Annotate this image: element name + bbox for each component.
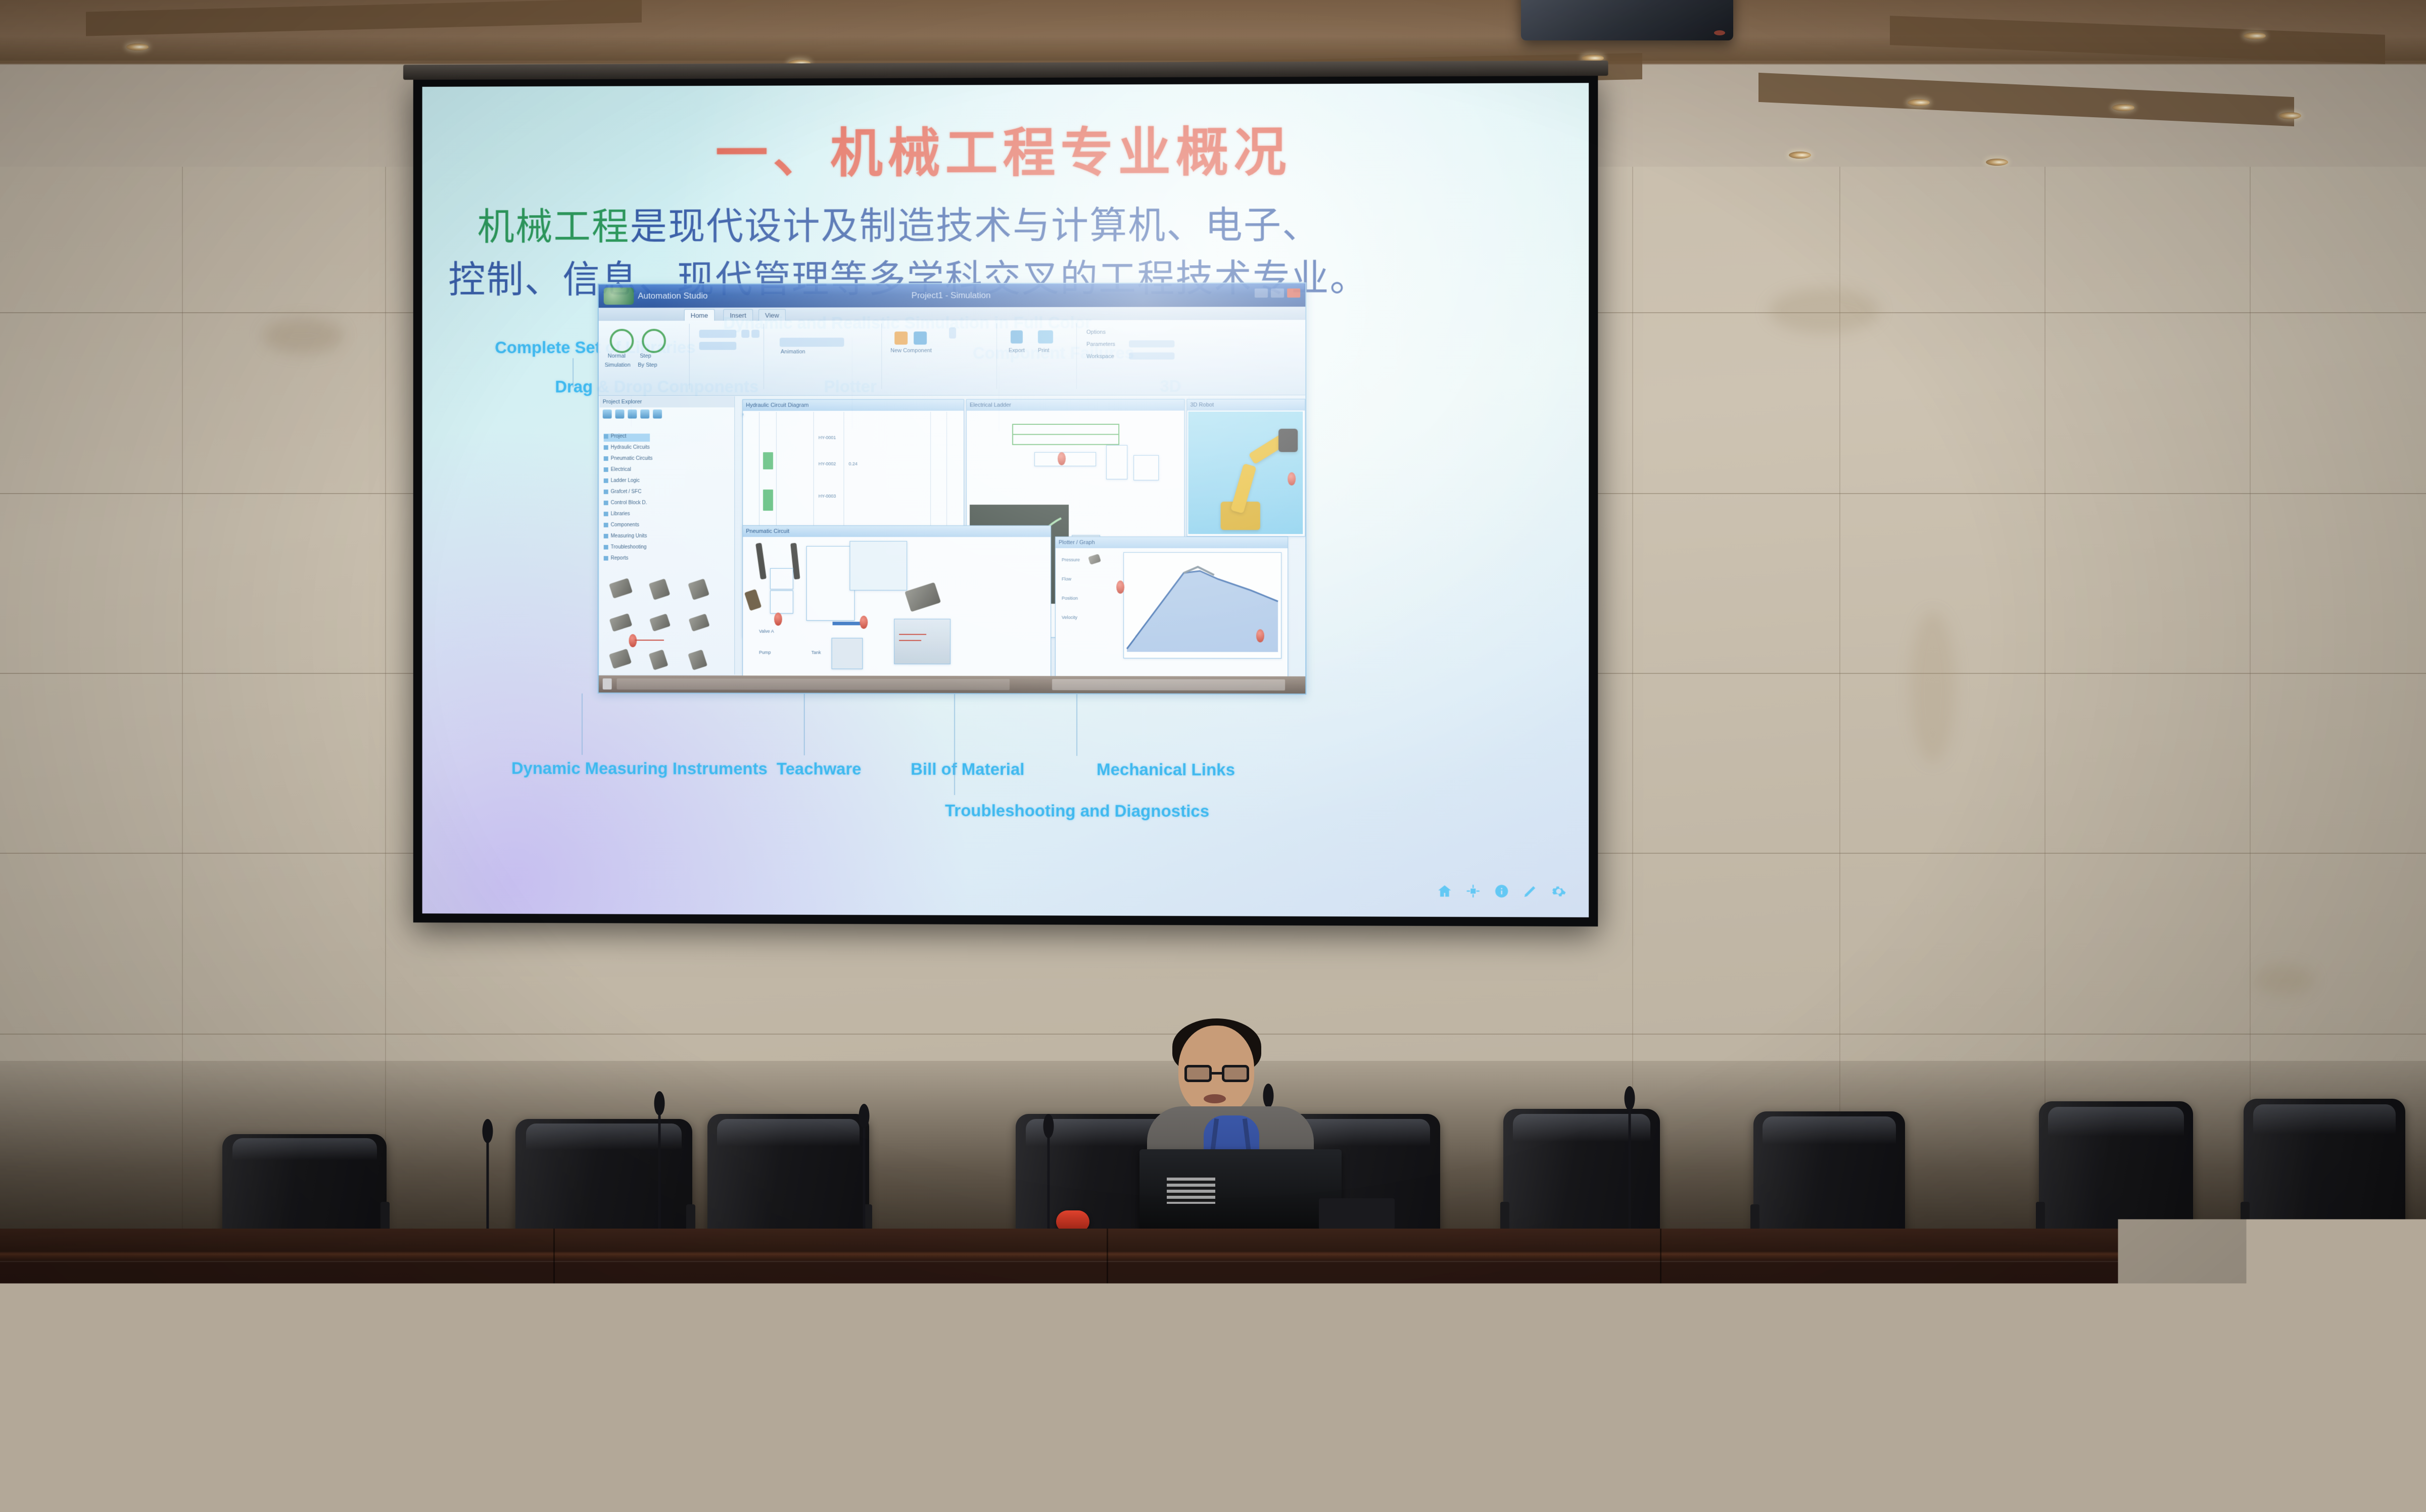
component-thumb[interactable]	[609, 578, 633, 599]
component-thumb[interactable]	[609, 649, 632, 669]
app-ribbon: Normal Step Simulation By Step Animation	[599, 320, 1306, 396]
projector-lens-icon	[1714, 30, 1725, 35]
slide-title: 一、机械工程专业概况	[422, 108, 1589, 187]
plot-canvas	[1123, 552, 1281, 659]
minimize-icon[interactable]	[1255, 288, 1268, 298]
laptop[interactable]	[1139, 1149, 1342, 1231]
callout-teachware: Teachware	[777, 759, 862, 778]
dais-panel-seam	[553, 1229, 555, 1481]
filter-icon[interactable]	[653, 409, 662, 418]
panel-title: Electrical Ladder	[967, 400, 1184, 411]
open-folder-icon[interactable]	[615, 410, 625, 419]
insert-icon[interactable]	[949, 327, 956, 338]
gooseneck-microphone	[644, 1091, 675, 1239]
panel-title: Hydraulic Circuit Diagram	[743, 400, 964, 411]
home-icon[interactable]	[1437, 884, 1452, 899]
sub-panel	[849, 541, 907, 591]
status-segment	[1052, 679, 1285, 691]
component-thumb[interactable]	[649, 649, 669, 670]
callout-leader-line	[1076, 694, 1077, 756]
callout-mechanical-links: Mechanical Links	[1097, 760, 1235, 779]
sub-panel	[1106, 445, 1127, 479]
app-tabbar: Home Insert View	[599, 307, 1306, 321]
callout-dynamic-measuring: Dynamic Measuring Instruments	[511, 759, 768, 778]
dais-panel-seam	[1107, 1229, 1108, 1481]
panel-plotter[interactable]: Plotter / Graph Pressure Flow Position V…	[1055, 536, 1288, 678]
app-title-mid: Project1 - Simulation	[912, 284, 991, 307]
component-thumb[interactable]	[689, 614, 710, 632]
component-thumb[interactable]	[609, 613, 633, 632]
chair	[2244, 1099, 2405, 1235]
floor	[0, 1482, 2426, 1512]
panel-title: Plotter / Graph	[1056, 537, 1288, 548]
component-thumb[interactable]	[649, 613, 671, 631]
info-circle-icon[interactable]	[1494, 884, 1509, 899]
app-statusbar	[599, 675, 1306, 694]
pen-icon[interactable]	[1523, 884, 1538, 899]
component-thumb[interactable]	[649, 578, 671, 600]
chair	[2039, 1101, 2193, 1235]
slide-body-line1: 是现代设计及制造技术与计算机、电子、	[630, 205, 1320, 248]
workspace-field[interactable]	[1129, 353, 1174, 360]
downlight	[2244, 32, 2266, 39]
tree-item[interactable]: Pneumatic Circuits	[604, 456, 653, 464]
slideshow-controls[interactable]	[1437, 884, 1566, 899]
projection-screen-frame: 一、机械工程专业概况 机械工程是现代设计及制造技术与计算机、电子、 控制、信息、…	[413, 74, 1598, 926]
app-titlebar: Automation Studio Project1 - Simulation	[599, 283, 1306, 308]
dais-front-panel	[0, 1229, 2426, 1512]
record-button[interactable]	[751, 330, 759, 338]
library-icon[interactable]	[914, 331, 927, 345]
downlight	[2279, 112, 2301, 119]
callout-troubleshooting: Troubleshooting and Diagnostics	[945, 801, 1209, 821]
tree-item[interactable]: Troubleshooting	[604, 545, 647, 553]
annotation-node	[1058, 452, 1066, 465]
embedded-app-screenshot: Automation Studio Project1 - Simulation …	[598, 282, 1307, 695]
dais-panel-seam	[1660, 1229, 1661, 1481]
crosshair-icon[interactable]	[1465, 884, 1481, 899]
sub-panel	[806, 546, 855, 621]
chair	[707, 1114, 869, 1238]
tab-view[interactable]: View	[758, 309, 786, 321]
status-segment	[617, 678, 1010, 690]
callout-leader-line	[804, 694, 805, 755]
mech-part-thumb	[905, 582, 941, 612]
component-thumb	[744, 589, 762, 611]
chair	[222, 1134, 387, 1235]
tree-item[interactable]: Project	[604, 433, 650, 442]
annotation-node	[1256, 629, 1264, 643]
gear-icon[interactable]	[1551, 884, 1566, 899]
annotation-node	[1288, 472, 1296, 485]
downlight	[1789, 152, 1811, 159]
tab-home[interactable]: Home	[684, 309, 715, 321]
status-segment	[603, 678, 612, 690]
annotation-node	[860, 616, 868, 629]
conference-hall-scene: 一、机械工程专业概况 机械工程是现代设计及制造技术与计算机、电子、 控制、信息、…	[0, 0, 2426, 1512]
downlight	[1986, 159, 2008, 166]
download-icon[interactable]	[1011, 330, 1023, 344]
app-title-left: Automation Studio	[638, 284, 707, 308]
maximize-icon[interactable]	[1271, 288, 1284, 298]
annotation-link	[899, 640, 921, 641]
new-file-icon[interactable]	[603, 410, 612, 419]
downlight	[2112, 104, 2134, 111]
callout-leader-line	[582, 694, 583, 755]
project-explorer-panel: Project Explorer Project Hydraulic Circu…	[600, 396, 735, 674]
plot-series-icon	[1124, 553, 1281, 658]
sub-panel	[770, 591, 793, 614]
callout-leader-line	[573, 358, 574, 387]
panel-3d-robot[interactable]: 3D Robot	[1186, 399, 1305, 537]
export-icon[interactable]	[1038, 330, 1053, 344]
tree-item[interactable]: Measuring Units	[604, 533, 647, 542]
annotation-node	[1116, 580, 1124, 594]
gooseneck-microphone	[472, 1119, 503, 1240]
tree-item[interactable]: Components	[604, 522, 639, 530]
projection-screen: 一、机械工程专业概况 机械工程是现代设计及制造技术与计算机、电子、 控制、信息、…	[422, 83, 1589, 917]
legend-swatch	[1088, 554, 1101, 565]
gooseneck-microphone	[849, 1104, 879, 1239]
tree-item[interactable]: Grafcet / SFC	[604, 489, 642, 497]
panel-pneumatic-main[interactable]	[742, 414, 743, 415]
chair	[1753, 1111, 1905, 1238]
project-explorer-header: Project Explorer	[600, 396, 735, 407]
window-controls[interactable]	[1255, 288, 1300, 298]
downlight	[1908, 99, 1930, 106]
app-logo-icon	[604, 287, 634, 305]
mic-console-box	[1319, 1198, 1395, 1230]
gooseneck-microphone	[1614, 1086, 1645, 1239]
laptop-sticker	[1167, 1178, 1215, 1204]
pause-button[interactable]	[699, 342, 737, 350]
panel-circuit-lower[interactable]: Pneumatic Circuit Valve A Pump Tank	[742, 525, 1051, 678]
options-field[interactable]	[1129, 340, 1174, 348]
annotation-link	[899, 634, 926, 635]
pause-icon[interactable]	[642, 329, 666, 353]
annotation-link	[635, 640, 664, 641]
save-icon[interactable]	[628, 410, 637, 419]
sub-panel	[1133, 455, 1159, 480]
downlight	[126, 43, 149, 51]
component-thumb[interactable]	[688, 578, 709, 600]
sub-panel	[832, 638, 863, 669]
tree-item[interactable]: Electrical	[604, 467, 631, 475]
close-icon[interactable]	[1287, 288, 1300, 298]
tree-item[interactable]: Ladder Logic	[604, 478, 640, 486]
panel-title: Pneumatic Circuit	[743, 526, 1051, 537]
animation-button[interactable]	[780, 337, 844, 347]
mouth	[1204, 1094, 1226, 1103]
tree-item[interactable]: Control Block D.	[604, 500, 647, 508]
callout-leader-line	[954, 694, 955, 795]
tree-item[interactable]: Libraries	[604, 511, 630, 519]
tab-insert[interactable]: Insert	[723, 309, 752, 321]
glasses-icon	[1184, 1065, 1249, 1082]
run-icon[interactable]	[610, 329, 634, 353]
ceiling-projector	[1521, 0, 1733, 40]
robot-end-effector	[1278, 429, 1298, 452]
tree-item[interactable]: Hydraulic Circuits	[604, 445, 650, 453]
refresh-icon[interactable]	[640, 410, 649, 419]
sub-panel	[894, 619, 950, 664]
new-component-icon[interactable]	[894, 331, 908, 345]
stop-button[interactable]	[699, 330, 737, 338]
explorer-toolbar[interactable]	[603, 409, 662, 418]
robot-viewport[interactable]	[1188, 412, 1303, 534]
slow-motion-button[interactable]	[741, 330, 749, 338]
slide-body-highlight: 机械工程	[478, 207, 630, 248]
tree-item[interactable]: Reports	[604, 556, 629, 564]
annotation-node	[774, 613, 782, 626]
cylinder-symbol	[755, 543, 767, 579]
panel-title: 3D Robot	[1187, 400, 1305, 411]
component-thumb[interactable]	[688, 649, 707, 670]
sub-panel	[770, 568, 793, 590]
callout-bill-of-material: Bill of Material	[911, 760, 1024, 779]
